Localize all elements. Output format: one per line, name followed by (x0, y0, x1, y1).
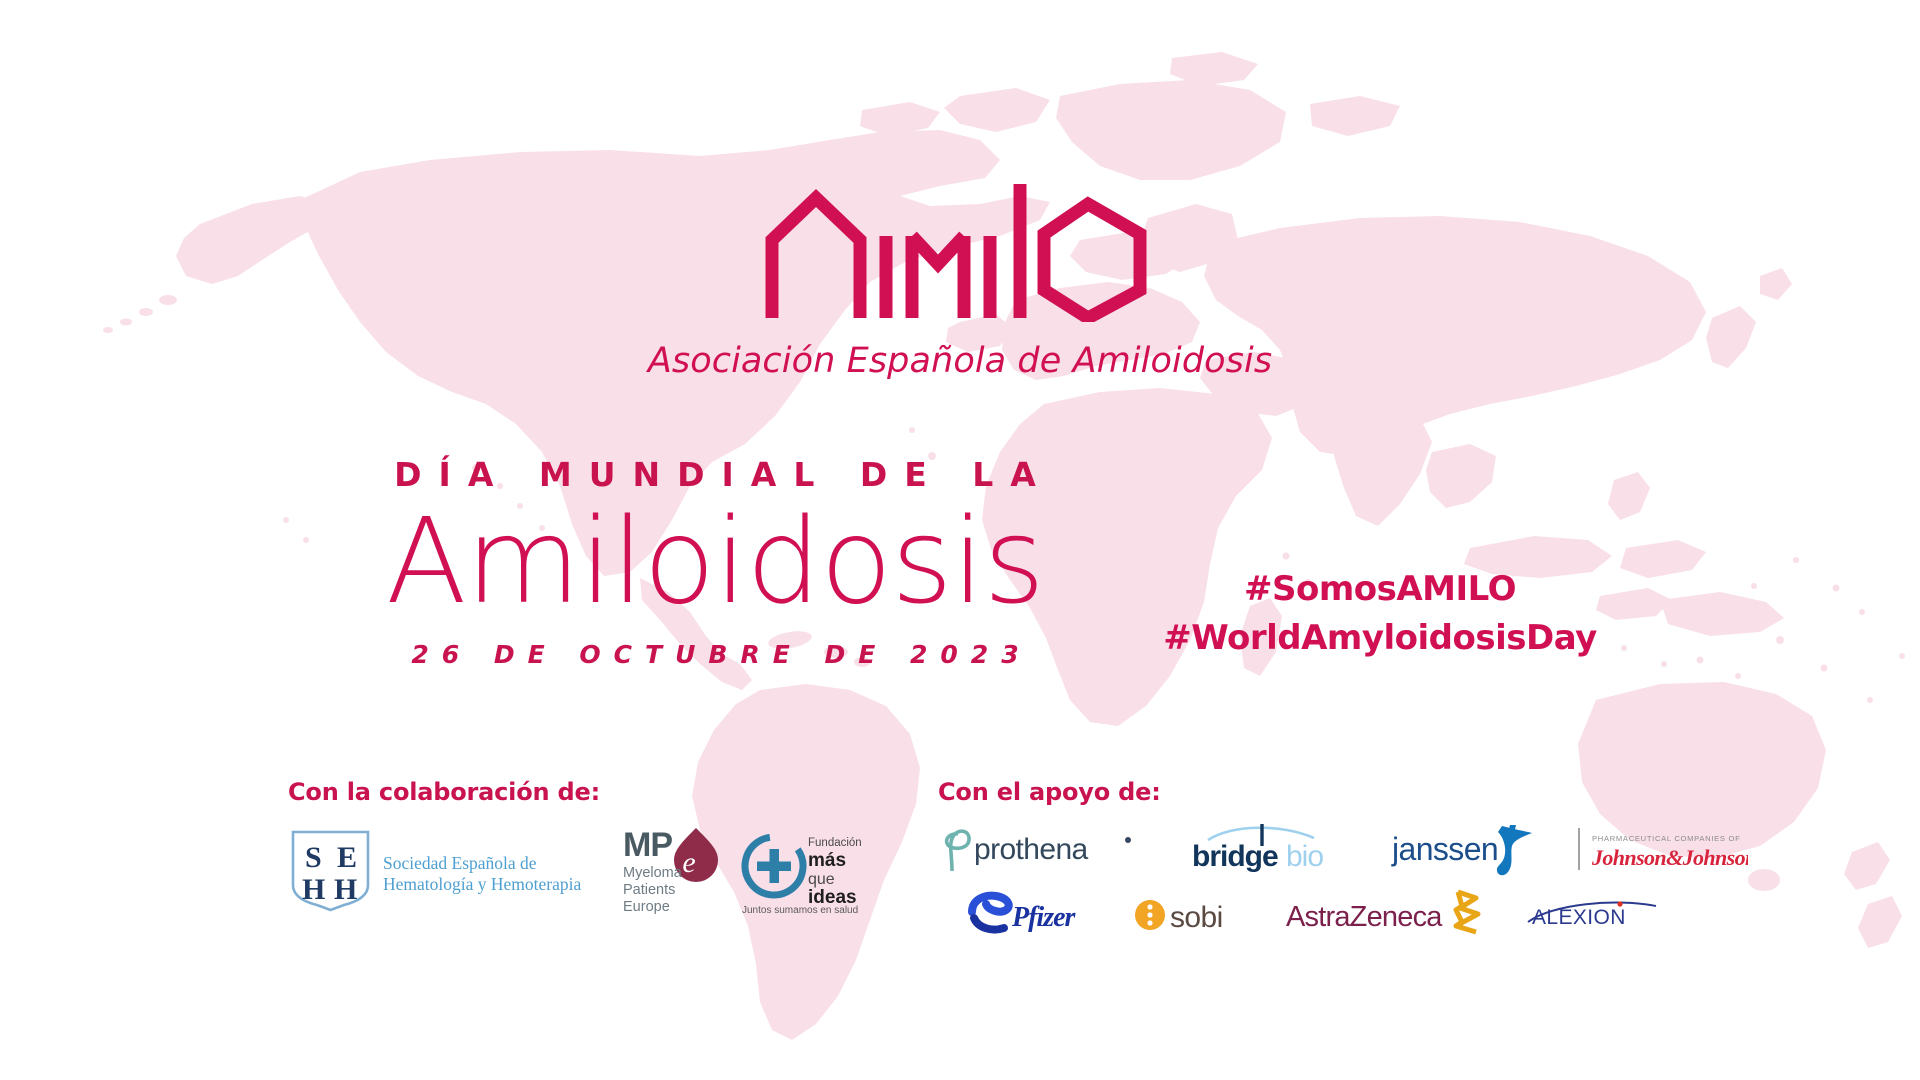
sehh-letter-h1: H (302, 873, 325, 906)
mpe-text-line1: Myeloma (623, 865, 683, 881)
logo-johnson-and-johnson: PHARMACEUTICAL COMPANIES OF Johnson&John… (1576, 820, 1748, 878)
support-logo-row-1: prothena bridge bio (938, 820, 1748, 878)
fundacion-mas: más (808, 850, 846, 871)
astrazeneca-wordmark: AstraZeneca (1286, 901, 1443, 933)
poster-canvas: Asociación Española de Amiloidosis DÍA M… (0, 0, 1920, 1080)
jnj-wordmark: Johnson&Johnson (1591, 845, 1748, 870)
headline-title: Amiloidosis (255, 500, 1175, 624)
sehh-text-line2: Hematología y Hemoterapia (383, 874, 581, 894)
logo-sobi: sobi (1132, 891, 1252, 937)
logo-sehh: S E H H Sociedad Española de Hematología… (288, 827, 606, 913)
hashtag-secondary: #WorldAmyloidosisDay (1130, 614, 1630, 663)
sehh-letter-e: E (337, 841, 357, 874)
amilo-tagline: Asociación Española de Amiloidosis (648, 341, 1272, 381)
support-logo-row-2: Pfizer sobi AstraZenec (938, 888, 1748, 940)
logo-astrazeneca: AstraZeneca (1286, 888, 1490, 940)
mpe-acronym: MP (623, 826, 672, 864)
logo-bridgebio: bridge bio (1174, 822, 1350, 876)
sehh-letter-h2: H (334, 873, 357, 906)
logo-prothena: prothena (938, 823, 1134, 875)
hashtag-primary: #SomosAMILO (1130, 565, 1630, 614)
sehh-text-line1: Sociedad Española de (383, 853, 537, 873)
amilo-logo-mark (762, 178, 1158, 327)
bridgebio-dark: bridge (1192, 840, 1278, 873)
alexion-wordmark: ALEXION (1532, 906, 1626, 929)
headline-date: 26 DE OCTUBRE DE 2023 (255, 640, 1175, 669)
fundacion-que: que (808, 871, 835, 888)
janssen-mark-icon (1497, 825, 1532, 875)
mpe-text-line2: Patients (623, 882, 675, 898)
collaboration-logo-row: S E H H Sociedad Española de Hematología… (288, 822, 862, 918)
collaboration-section: Con la colaboración de: S E H H Sociedad (288, 778, 862, 918)
prothena-wordmark: prothena (974, 833, 1089, 866)
alexion-accent-dot (1617, 901, 1622, 906)
mpe-droplet-letter: e (682, 846, 695, 879)
jnj-eyebrow: PHARMACEUTICAL COMPANIES OF (1592, 834, 1740, 843)
logo-janssen: janssen (1390, 820, 1536, 878)
support-heading: Con el apoyo de: (938, 778, 1748, 806)
pfizer-wordmark: Pfizer (1011, 902, 1077, 933)
bridgebio-light: bio (1286, 840, 1323, 873)
astrazeneca-ribbon-icon (1456, 892, 1478, 932)
fundacion-tagline: Juntos sumamos en salud (742, 905, 858, 916)
janssen-wordmark: janssen (1391, 831, 1498, 867)
headline-group: DÍA MUNDIAL DE LA Amiloidosis 26 DE OCTU… (255, 455, 1175, 669)
amilo-logo-block: Asociación Española de Amiloidosis (0, 178, 1920, 381)
logo-mpe: MP e Myeloma Patients Europe (622, 822, 722, 918)
logo-alexion: ALEXION (1524, 892, 1660, 936)
logo-fundacion-mas-que-ideas: Fundación más que ideas Juntos sumamos e… (738, 824, 862, 916)
headline-kicker: DÍA MUNDIAL DE LA (255, 455, 1175, 494)
pfizer-helix-icon (972, 896, 1009, 930)
fundacion-word: Fundación (808, 837, 862, 849)
logo-pfizer: Pfizer (968, 890, 1098, 938)
mpe-text-line3: Europe (623, 899, 670, 915)
sehh-letter-s: S (305, 841, 322, 874)
collaboration-heading: Con la colaboración de: (288, 778, 862, 806)
support-section: Con el apoyo de: prothena (938, 778, 1748, 940)
sobi-wordmark: sobi (1170, 901, 1223, 934)
hashtag-group: #SomosAMILO #WorldAmyloidosisDay (1130, 565, 1630, 664)
prothena-ribbon-icon (947, 831, 969, 871)
circle-plus-icon (738, 826, 814, 907)
